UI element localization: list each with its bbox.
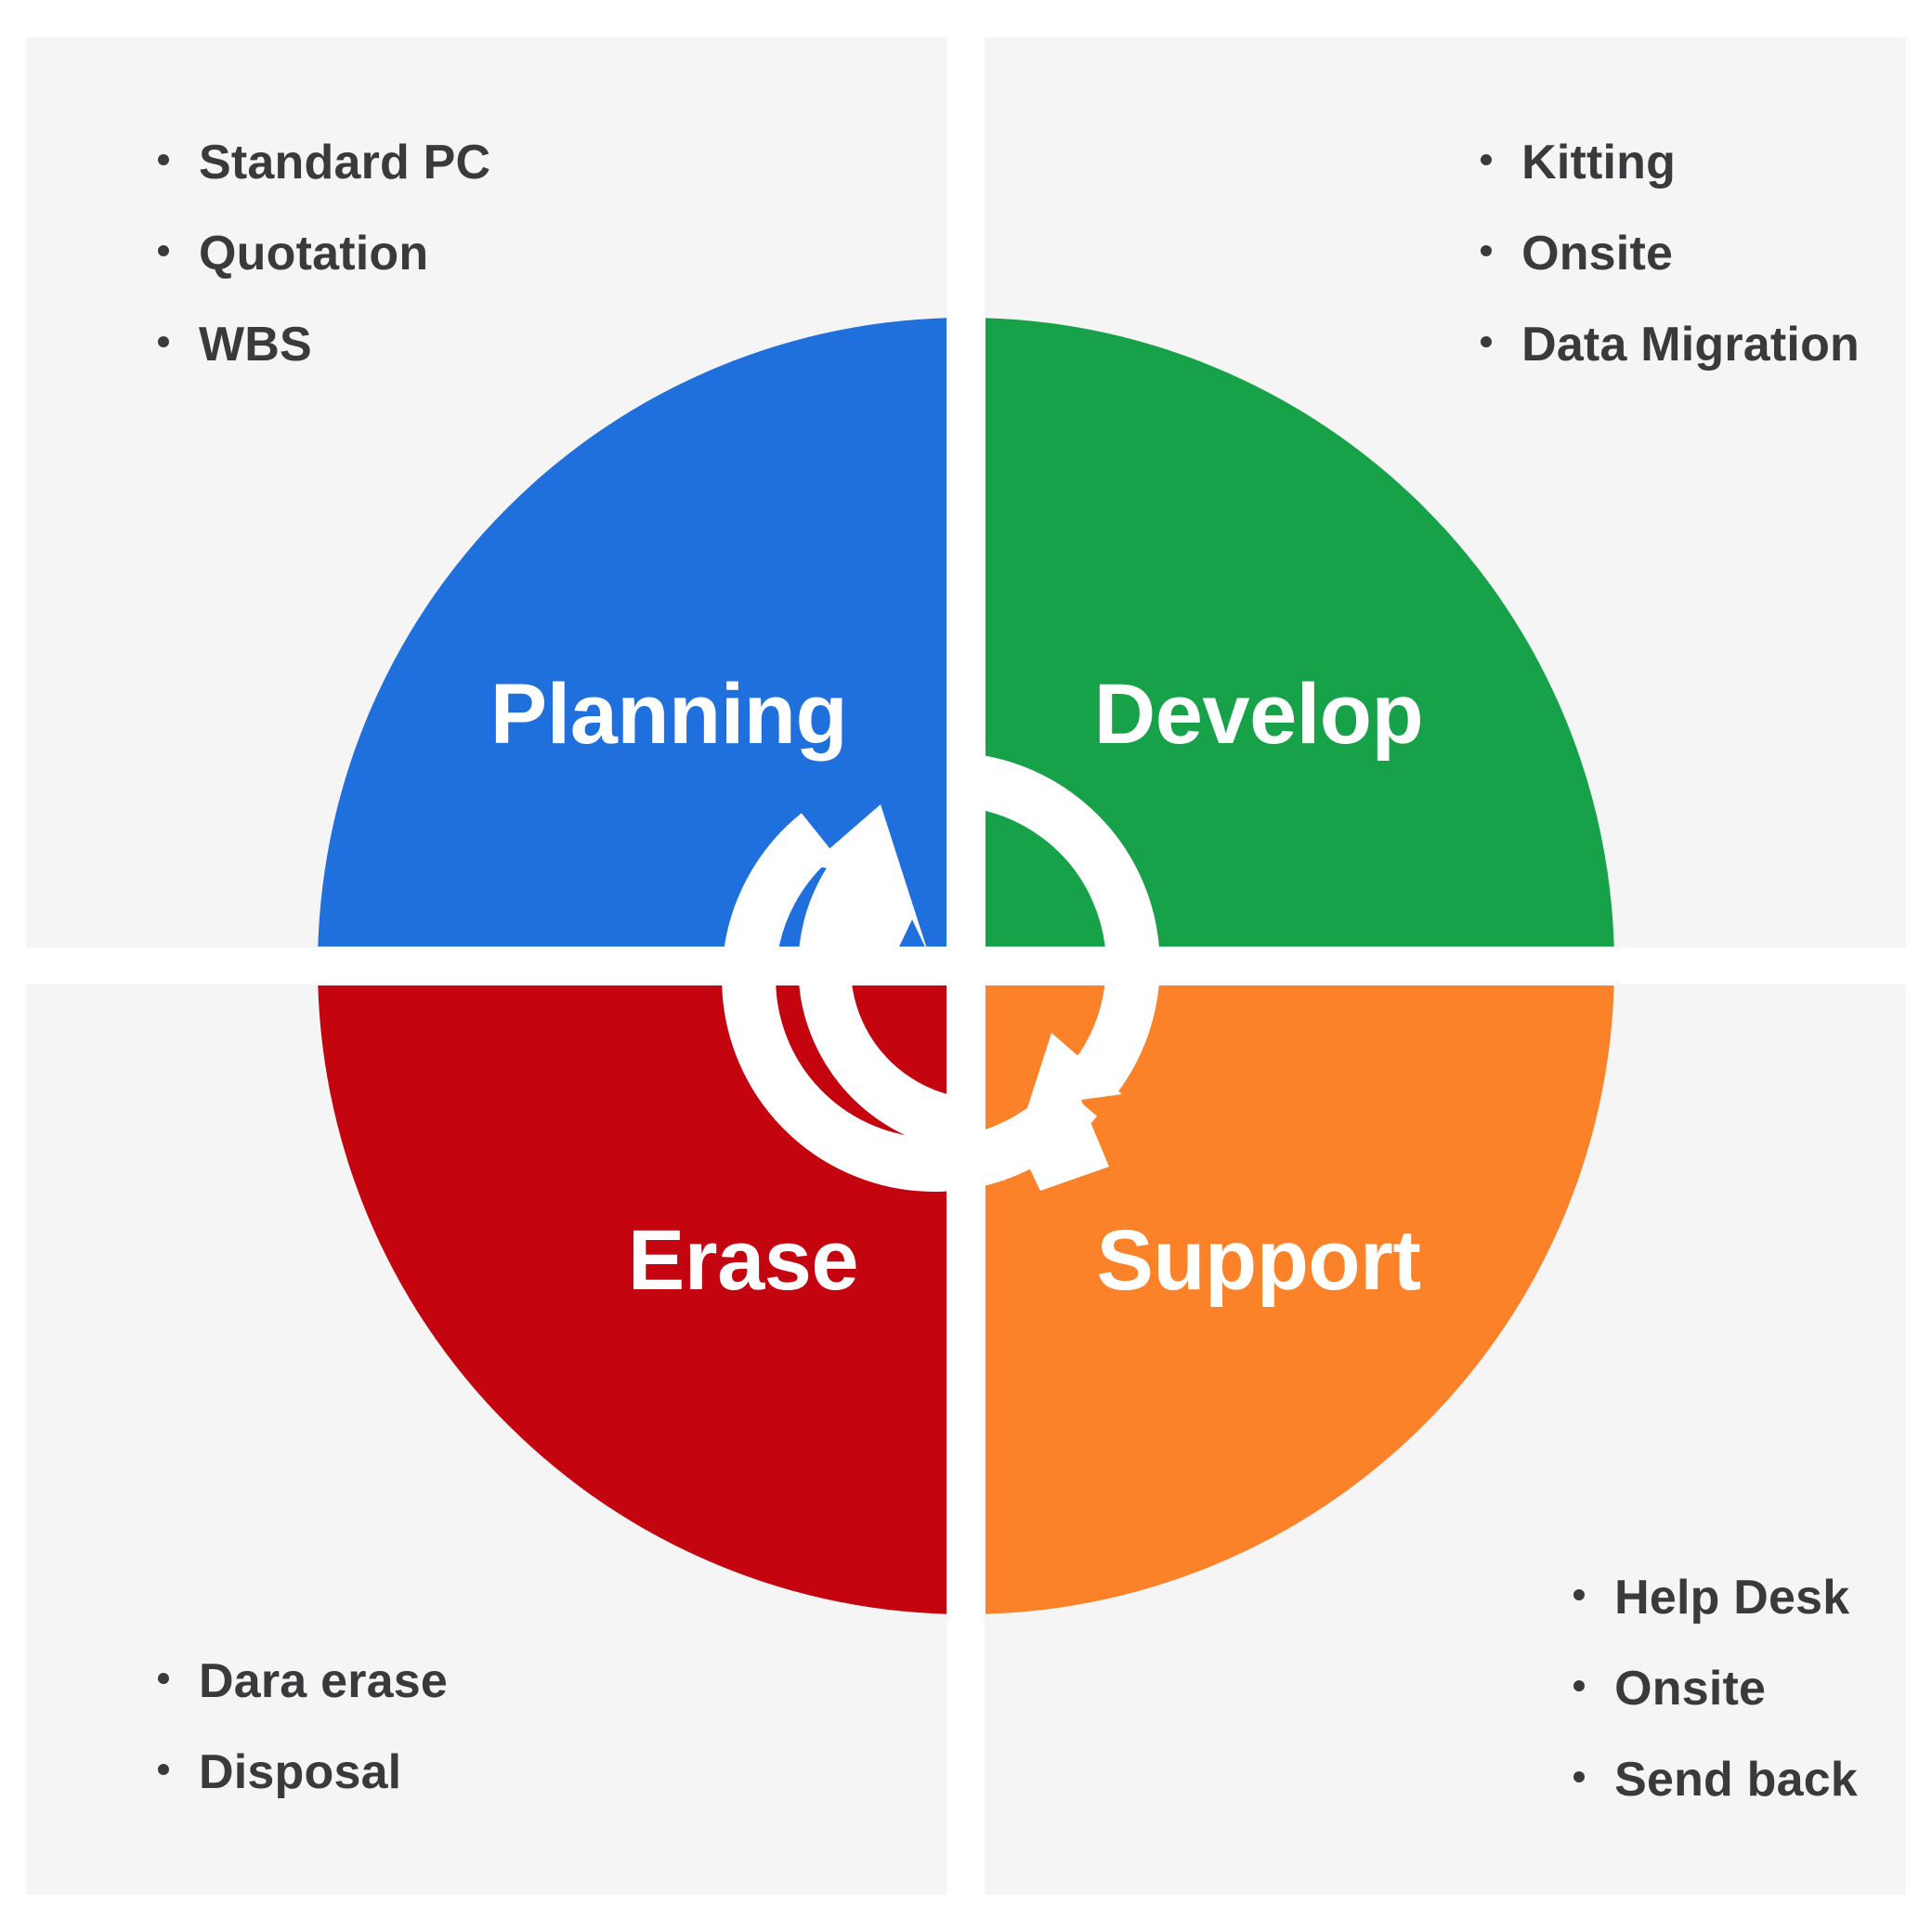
list-item: Onsite: [1573, 1661, 1858, 1717]
list-item-label: Data Migration: [1521, 317, 1860, 372]
list-develop: Kitting Onsite Data Migration: [1481, 135, 1860, 408]
bullet-dot-icon: [158, 1764, 169, 1775]
list-item-label: Disposal: [199, 1744, 401, 1800]
bullet-dot-icon: [158, 154, 169, 165]
list-item-label: Send back: [1614, 1752, 1858, 1808]
label-erase: Erase: [628, 1213, 858, 1308]
list-erase: Dara erase Disposal: [158, 1653, 448, 1835]
bullet-dot-icon: [1573, 1589, 1585, 1600]
list-item-label: Onsite: [1614, 1661, 1766, 1717]
list-item: Standard PC: [158, 135, 490, 190]
list-item: Dara erase: [158, 1653, 448, 1709]
label-support: Support: [1096, 1213, 1420, 1308]
bullet-dot-icon: [1573, 1771, 1585, 1782]
list-item-label: WBS: [199, 317, 312, 372]
list-item: Send back: [1573, 1752, 1858, 1808]
list-item-label: Help Desk: [1614, 1570, 1849, 1625]
list-support: Help Desk Onsite Send back: [1573, 1570, 1858, 1843]
bullet-dot-icon: [1573, 1680, 1585, 1691]
list-item-label: Quotation: [199, 226, 428, 281]
diagram-canvas: Planning Develop Erase Support Standard …: [0, 0, 1932, 1932]
list-item: WBS: [158, 317, 490, 372]
bullet-dot-icon: [158, 1673, 169, 1684]
bullet-dot-icon: [1481, 154, 1492, 165]
bullet-dot-icon: [1481, 245, 1492, 256]
list-item-label: Onsite: [1521, 226, 1673, 281]
list-planning: Standard PC Quotation WBS: [158, 135, 490, 408]
list-item: Disposal: [158, 1744, 448, 1800]
list-item: Quotation: [158, 226, 490, 281]
quadrant-develop[interactable]: [966, 318, 1614, 966]
list-item: Onsite: [1481, 226, 1860, 281]
list-item: Data Migration: [1481, 317, 1860, 372]
bullet-dot-icon: [158, 245, 169, 256]
list-item: Help Desk: [1573, 1570, 1858, 1625]
list-item-label: Dara erase: [199, 1653, 448, 1709]
list-item-label: Kitting: [1521, 135, 1676, 190]
bullet-dot-icon: [158, 336, 169, 347]
label-develop: Develop: [1094, 667, 1423, 762]
list-item: Kitting: [1481, 135, 1860, 190]
list-item-label: Standard PC: [199, 135, 490, 190]
label-planning: Planning: [490, 667, 847, 762]
bullet-dot-icon: [1481, 336, 1492, 347]
